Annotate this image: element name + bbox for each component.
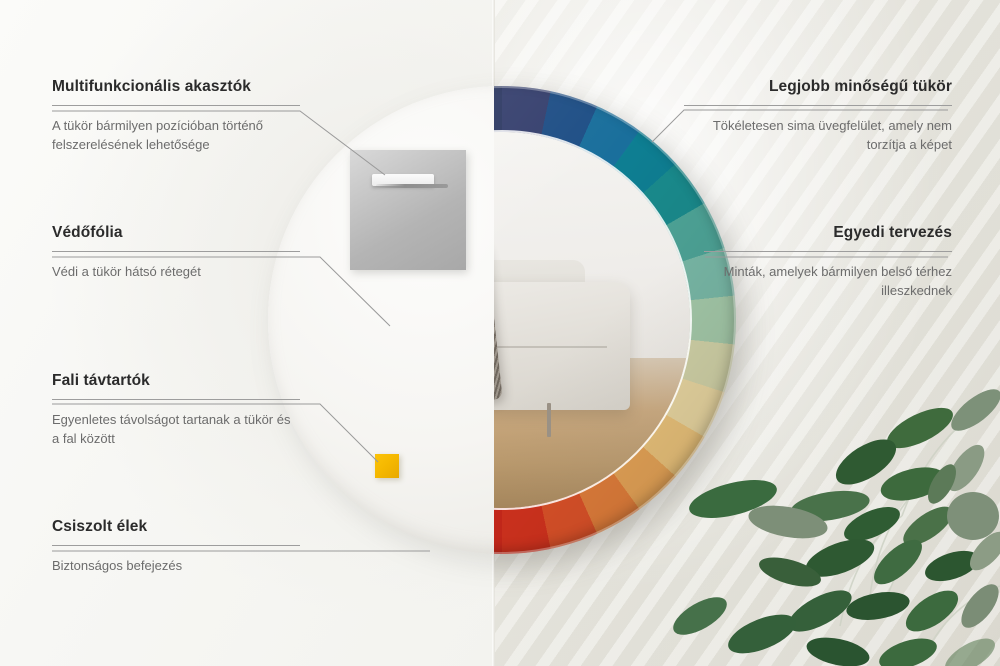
callout-description: A tükör bármilyen pozícióban történő fel…	[52, 117, 300, 155]
callout-rule	[704, 251, 952, 252]
callout-rule	[684, 105, 952, 106]
hanger-slot-shadow	[376, 184, 448, 188]
callout-title: Legjobb minőségű tükör	[684, 78, 952, 96]
infographic-canvas: Multifunkcionális akasztók A tükör bármi…	[0, 0, 1000, 666]
callout-description: Biztonságos befejezés	[52, 557, 300, 576]
callout-title: Védőfólia	[52, 224, 300, 242]
callout-csiszolt-elek: Csiszolt élek Biztonságos befejezés	[52, 518, 300, 576]
callout-description: Egyenletes távolságot tartanak a tükör é…	[52, 411, 300, 449]
callout-title: Fali távtartók	[52, 372, 300, 390]
callout-rule	[52, 399, 300, 400]
mirror-glass	[494, 132, 690, 508]
wall-spacer	[375, 454, 399, 478]
callout-legjobb-minosegu-tukor: Legjobb minőségű tükör Tökéletesen sima …	[684, 78, 952, 155]
reflection-shading	[494, 132, 690, 508]
callout-vedofolia: Védőfólia Védi a tükör hátsó rétegét	[52, 224, 300, 282]
callout-multifunkcionalis-akasztok: Multifunkcionális akasztók A tükör bármi…	[52, 78, 300, 155]
callout-title: Egyedi tervezés	[704, 224, 952, 242]
mirror-reflection	[494, 132, 690, 508]
callout-egyedi-tervezes: Egyedi tervezés Minták, amelyek bármilye…	[704, 224, 952, 301]
hanger-plate	[350, 150, 466, 270]
callout-fali-tavtartok: Fali távtartók Egyenletes távolságot tar…	[52, 372, 300, 449]
callout-rule	[52, 545, 300, 546]
callout-description: Tökéletesen sima üvegfelület, amely nem …	[684, 117, 952, 155]
callout-title: Csiszolt élek	[52, 518, 300, 536]
callout-description: Minták, amelyek bármilyen belső térhez i…	[704, 263, 952, 301]
callout-description: Védi a tükör hátsó rétegét	[52, 263, 300, 282]
callout-rule	[52, 251, 300, 252]
callout-title: Multifunkcionális akasztók	[52, 78, 300, 96]
callout-rule	[52, 105, 300, 106]
color-ring	[494, 86, 736, 554]
